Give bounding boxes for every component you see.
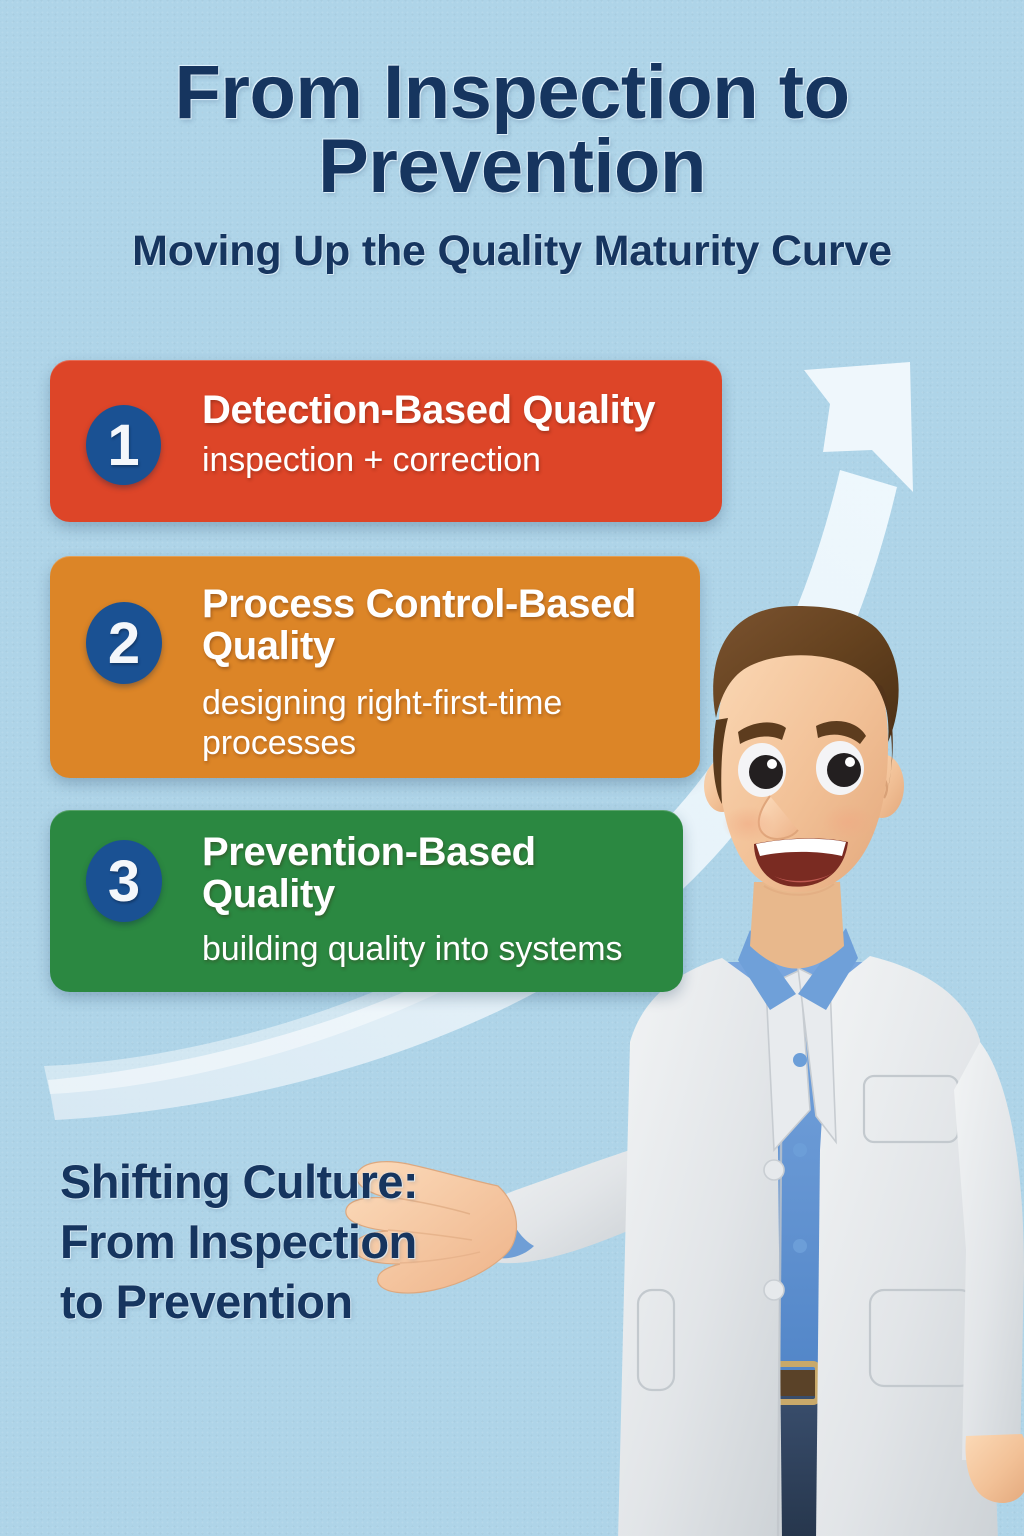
step-card-detection[interactable]: 1 Detection-Based Quality inspection + c… bbox=[50, 360, 722, 522]
footer-callout: Shifting Culture: From Inspection to Pre… bbox=[60, 1152, 580, 1332]
step-subtext: building quality into systems bbox=[202, 929, 672, 969]
page-title-line-1: From Inspection to bbox=[0, 56, 1024, 130]
footer-line-2: From Inspection bbox=[60, 1212, 580, 1272]
footer-line-1: Shifting Culture: bbox=[60, 1152, 580, 1212]
poster-header: From Inspection to Prevention Moving Up … bbox=[0, 56, 1024, 276]
step-card-inner: 1 Detection-Based Quality inspection + c… bbox=[50, 360, 722, 522]
step-card-text: Prevention-Based Quality building qualit… bbox=[202, 832, 672, 969]
page-subtitle: Moving Up the Quality Maturity Curve bbox=[0, 227, 1024, 276]
step-heading: Process Control-Based Quality bbox=[202, 584, 682, 667]
step-heading: Detection-Based Quality bbox=[202, 390, 702, 432]
step-card-text: Process Control-Based Quality designing … bbox=[202, 584, 682, 763]
step-card-process-control[interactable]: 2 Process Control-Based Quality designin… bbox=[50, 556, 700, 778]
step-number-badge: 3 bbox=[86, 840, 162, 922]
coat-button bbox=[764, 1160, 784, 1180]
arrow-head bbox=[804, 362, 913, 492]
step-number-badge: 1 bbox=[86, 405, 161, 485]
step-card-prevention[interactable]: 3 Prevention-Based Quality building qual… bbox=[50, 810, 683, 992]
step-card-text: Detection-Based Quality inspection + cor… bbox=[202, 390, 702, 480]
step-number-badge: 2 bbox=[86, 602, 162, 684]
body-lab-coat bbox=[618, 928, 1024, 1536]
step-subtext: inspection + correction bbox=[202, 440, 702, 480]
infographic-poster: From Inspection to Prevention Moving Up … bbox=[0, 0, 1024, 1536]
step-heading: Prevention-Based Quality bbox=[202, 832, 672, 915]
coat-button bbox=[764, 1280, 784, 1300]
page-title-line-2: Prevention bbox=[0, 130, 1024, 204]
step-card-inner: 2 Process Control-Based Quality designin… bbox=[50, 556, 700, 778]
step-subtext: designing right-first-time processes bbox=[202, 683, 682, 763]
step-card-inner: 3 Prevention-Based Quality building qual… bbox=[50, 810, 683, 992]
footer-line-3: to Prevention bbox=[60, 1272, 580, 1332]
character-head bbox=[704, 606, 904, 895]
